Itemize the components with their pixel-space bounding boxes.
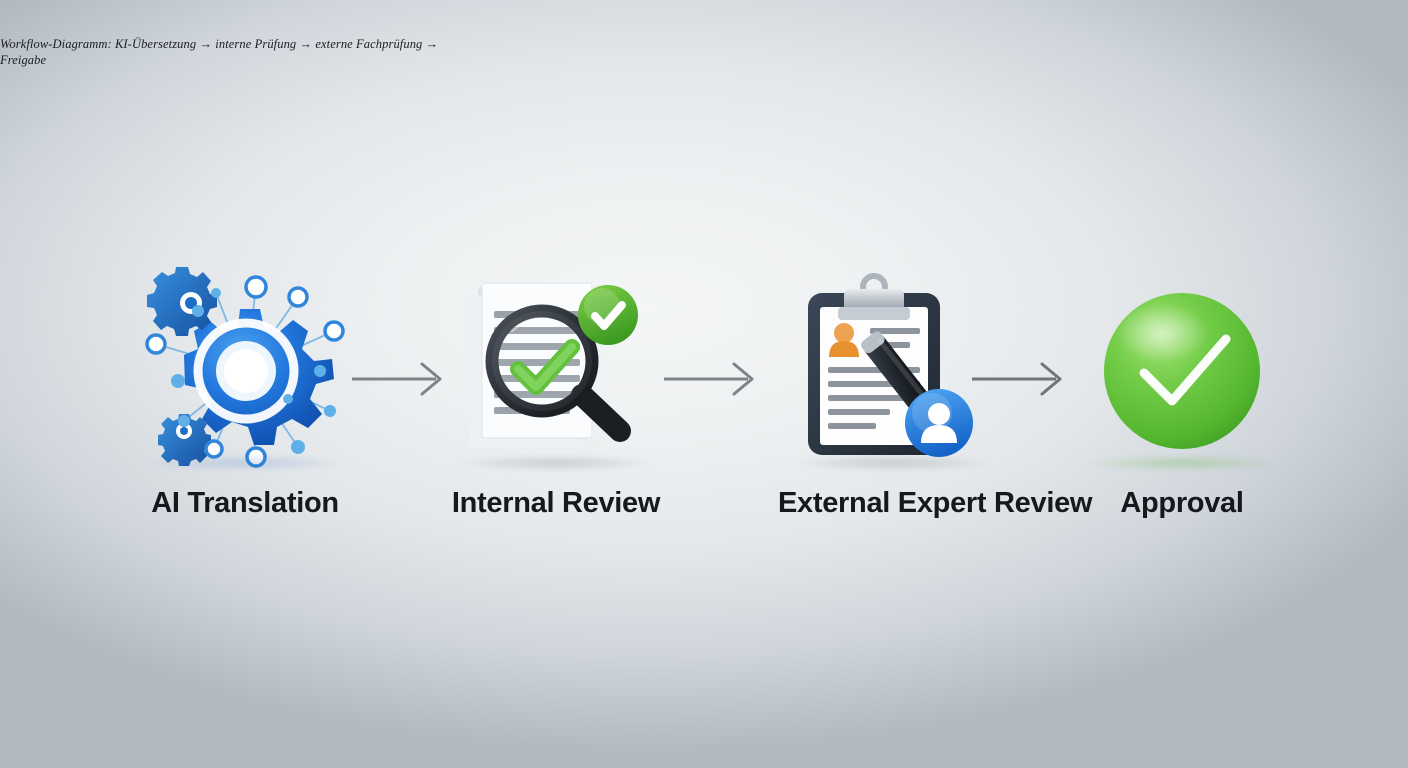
step-label: Approval — [1067, 487, 1297, 520]
clipboard-pen-person-icon — [796, 271, 991, 471]
step-label: Internal Review — [441, 487, 671, 520]
workflow-step-ai-translation[interactable]: AI Translation — [130, 268, 360, 520]
step-label: AI Translation — [130, 487, 360, 520]
icon-container — [1067, 268, 1297, 473]
expert-badge — [905, 389, 973, 457]
workflow-arrow-2 — [664, 362, 764, 396]
step-label: External Expert Review — [778, 487, 1008, 520]
icon-shadow — [1087, 455, 1277, 471]
icon-shadow — [150, 455, 340, 471]
workflow-diagram-canvas: Workflow-Diagramm: KI-Übersetzung → inte… — [0, 0, 1408, 768]
document-magnifier-check-icon — [456, 273, 656, 468]
workflow-arrow-3 — [972, 362, 1072, 396]
icon-container — [441, 268, 671, 473]
icon-container — [130, 268, 360, 473]
workflow-arrow-1 — [352, 362, 452, 396]
workflow-flow: AI Translation — [0, 0, 1408, 768]
gear-network-icon — [138, 271, 353, 471]
workflow-step-internal-review[interactable]: Internal Review — [441, 268, 671, 520]
clip-top — [838, 276, 910, 320]
icon-shadow — [798, 455, 988, 471]
approved-badge — [578, 285, 638, 345]
green-check-sphere-icon — [1092, 281, 1272, 461]
icon-shadow — [461, 455, 651, 471]
workflow-step-approval[interactable]: Approval — [1067, 268, 1297, 520]
